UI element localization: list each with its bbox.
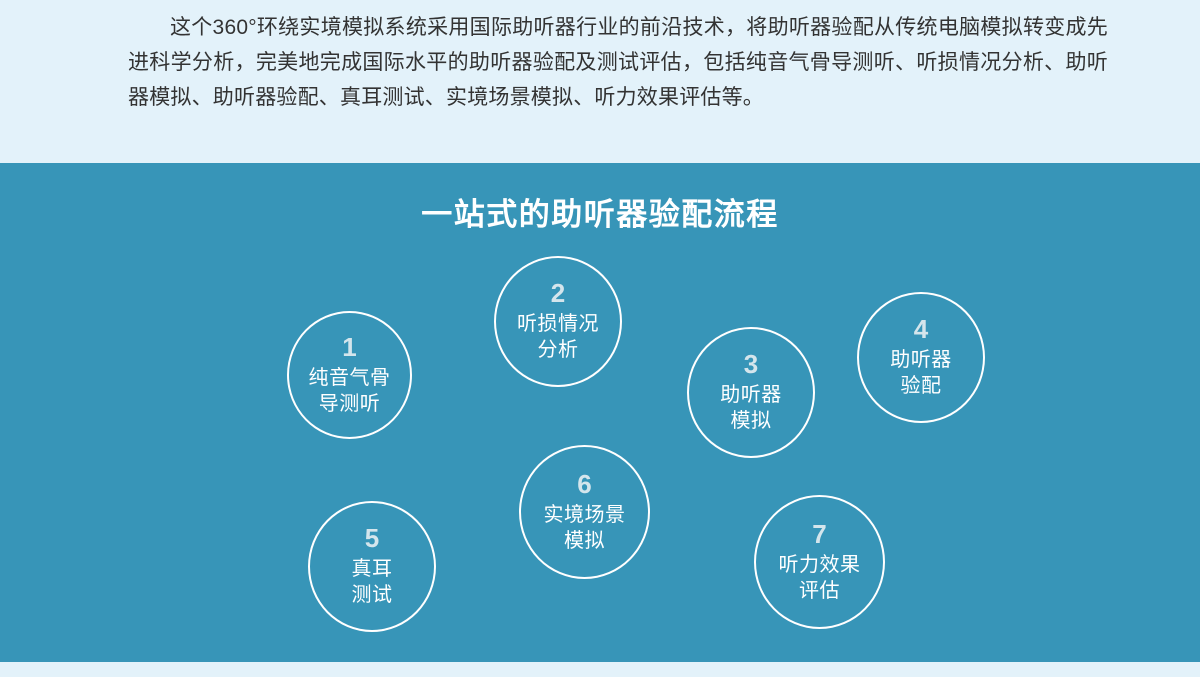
intro-section: 这个360°环绕实境模拟系统采用国际助听器行业的前沿技术，将助听器验配从传统电脑…	[0, 0, 1200, 163]
flow-step-number-2: 2	[551, 280, 565, 306]
flow-step-circle-6: 6 实境场景 模拟	[519, 445, 650, 579]
hearing-aid-fitting-flow-section: 一站式的助听器验配流程 1 纯音气骨 导测听 2 听损情况 分析 3 助听器 模…	[0, 163, 1200, 662]
flow-step-number-4: 4	[914, 316, 928, 342]
flow-step-number-1: 1	[342, 334, 356, 360]
flow-step-label-3: 助听器 模拟	[720, 382, 782, 434]
flow-step-circle-3: 3 助听器 模拟	[687, 327, 815, 458]
flow-step-label-7: 听力效果 评估	[779, 552, 861, 604]
flow-step-number-6: 6	[577, 471, 591, 497]
flow-step-circle-5: 5 真耳 测试	[308, 501, 436, 632]
flow-step-label-4: 助听器 验配	[890, 347, 952, 399]
flow-step-circle-4: 4 助听器 验配	[857, 292, 985, 423]
flow-step-number-3: 3	[744, 351, 758, 377]
bottom-strip	[0, 662, 1200, 677]
flow-step-circle-7: 7 听力效果 评估	[754, 495, 885, 629]
flow-step-number-5: 5	[365, 525, 379, 551]
flow-step-label-5: 真耳 测试	[352, 556, 393, 608]
flow-step-label-2: 听损情况 分析	[517, 311, 599, 363]
flow-step-label-6: 实境场景 模拟	[544, 502, 626, 554]
page-root: 这个360°环绕实境模拟系统采用国际助听器行业的前沿技术，将助听器验配从传统电脑…	[0, 0, 1200, 677]
intro-paragraph: 这个360°环绕实境模拟系统采用国际助听器行业的前沿技术，将助听器验配从传统电脑…	[128, 10, 1108, 115]
flow-step-label-1: 纯音气骨 导测听	[309, 365, 391, 417]
flow-title: 一站式的助听器验配流程	[0, 189, 1200, 234]
flow-step-number-7: 7	[812, 521, 826, 547]
flow-step-circle-1: 1 纯音气骨 导测听	[287, 311, 412, 439]
flow-step-circle-2: 2 听损情况 分析	[494, 256, 622, 387]
